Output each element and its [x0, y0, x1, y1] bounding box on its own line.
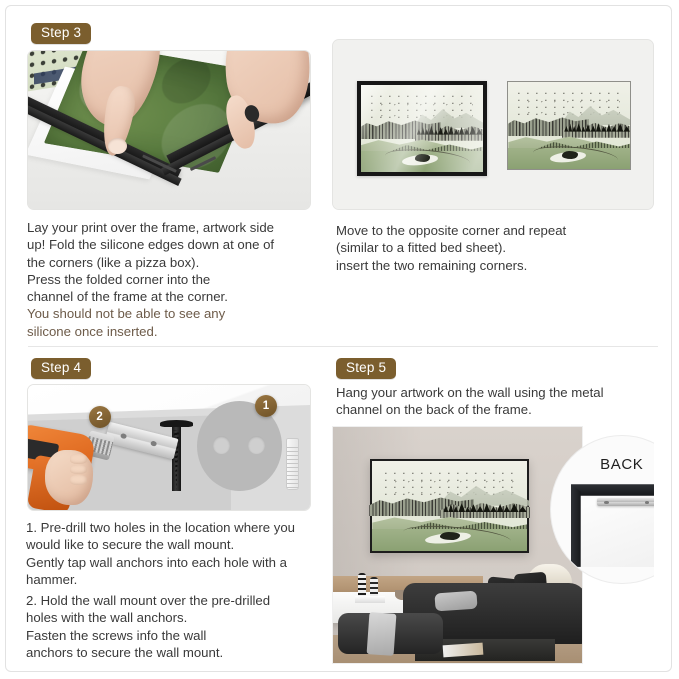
step-4-caption-2: 2. Hold the wall mount over the pre-dril…	[26, 592, 326, 661]
bracket-hole-1	[120, 433, 127, 440]
two-framed-prints-illustration	[333, 40, 653, 209]
finger	[70, 465, 87, 474]
step-5-caption: Hang your artwork on the wall using the …	[336, 384, 646, 419]
section-divider	[28, 346, 658, 347]
step-3-caption-right: Move to the opposite corner and repeat (…	[336, 222, 646, 274]
step-3-badge: Step 3	[31, 23, 91, 44]
hand-holding-drill	[45, 450, 93, 505]
step-3-photo-two-prints	[332, 39, 654, 210]
artwork-speckles	[385, 472, 515, 495]
step-5-illustration-panel: BACK	[332, 426, 654, 664]
frame-back-top-rail	[571, 484, 654, 496]
finger	[70, 454, 87, 463]
throw-blanket	[366, 613, 396, 657]
step-3-caption-block: Lay your print over the frame, artwork s…	[27, 219, 327, 340]
artwork-speckles	[371, 95, 473, 118]
decor-books	[355, 596, 385, 603]
artwork-speckles	[518, 92, 620, 115]
step-4-caption-1: 1. Pre-drill two holes in the location w…	[26, 519, 326, 588]
step-3-caption-main: Lay your print over the frame, artwork s…	[27, 219, 327, 305]
step-3-caption-warning: You should not be able to see any silico…	[27, 305, 327, 340]
channel-screw-2	[645, 501, 649, 504]
channel-screw-1	[604, 501, 608, 504]
callout-label: BACK	[551, 456, 654, 473]
step-5-badge: Step 5	[336, 358, 396, 379]
drilled-hole-1	[213, 436, 230, 454]
step-3-photo-frame-corner	[27, 50, 311, 210]
sofa-cushion-light	[435, 591, 478, 612]
drilled-hole-2	[248, 436, 265, 454]
frame-back-surface	[581, 496, 654, 567]
step-4-illustration-panel: 2 1	[27, 384, 311, 511]
print-wrap-fitted	[508, 82, 630, 170]
landscape-artwork	[372, 461, 526, 551]
drill-and-hardware-illustration: 2 1	[28, 385, 310, 510]
print-wrap-loose	[361, 85, 483, 173]
frame-back-detail	[571, 484, 654, 567]
instruction-sheet: Step 3 Lay your print over the frame, ar…	[5, 5, 672, 672]
landscape-artwork	[508, 82, 630, 170]
framed-print-loose	[357, 81, 487, 177]
left-fingernail	[108, 138, 126, 154]
marker-2-badge: 2	[89, 406, 111, 428]
metal-hanging-channel	[597, 498, 654, 506]
wall-anchor-icon	[286, 438, 299, 491]
living-room-photo	[332, 426, 583, 664]
photo-frame-corner-illustration	[28, 51, 310, 209]
finger	[70, 475, 87, 484]
marker-1-badge: 1	[255, 395, 277, 417]
framed-print-fitted	[507, 81, 631, 171]
hung-framed-artwork	[370, 459, 528, 553]
screw-icon	[172, 426, 181, 491]
step-4-badge: Step 4	[31, 358, 91, 379]
landscape-artwork	[361, 85, 483, 173]
frame-back-side-rail	[571, 484, 581, 567]
bracket-hole-2	[150, 440, 157, 447]
